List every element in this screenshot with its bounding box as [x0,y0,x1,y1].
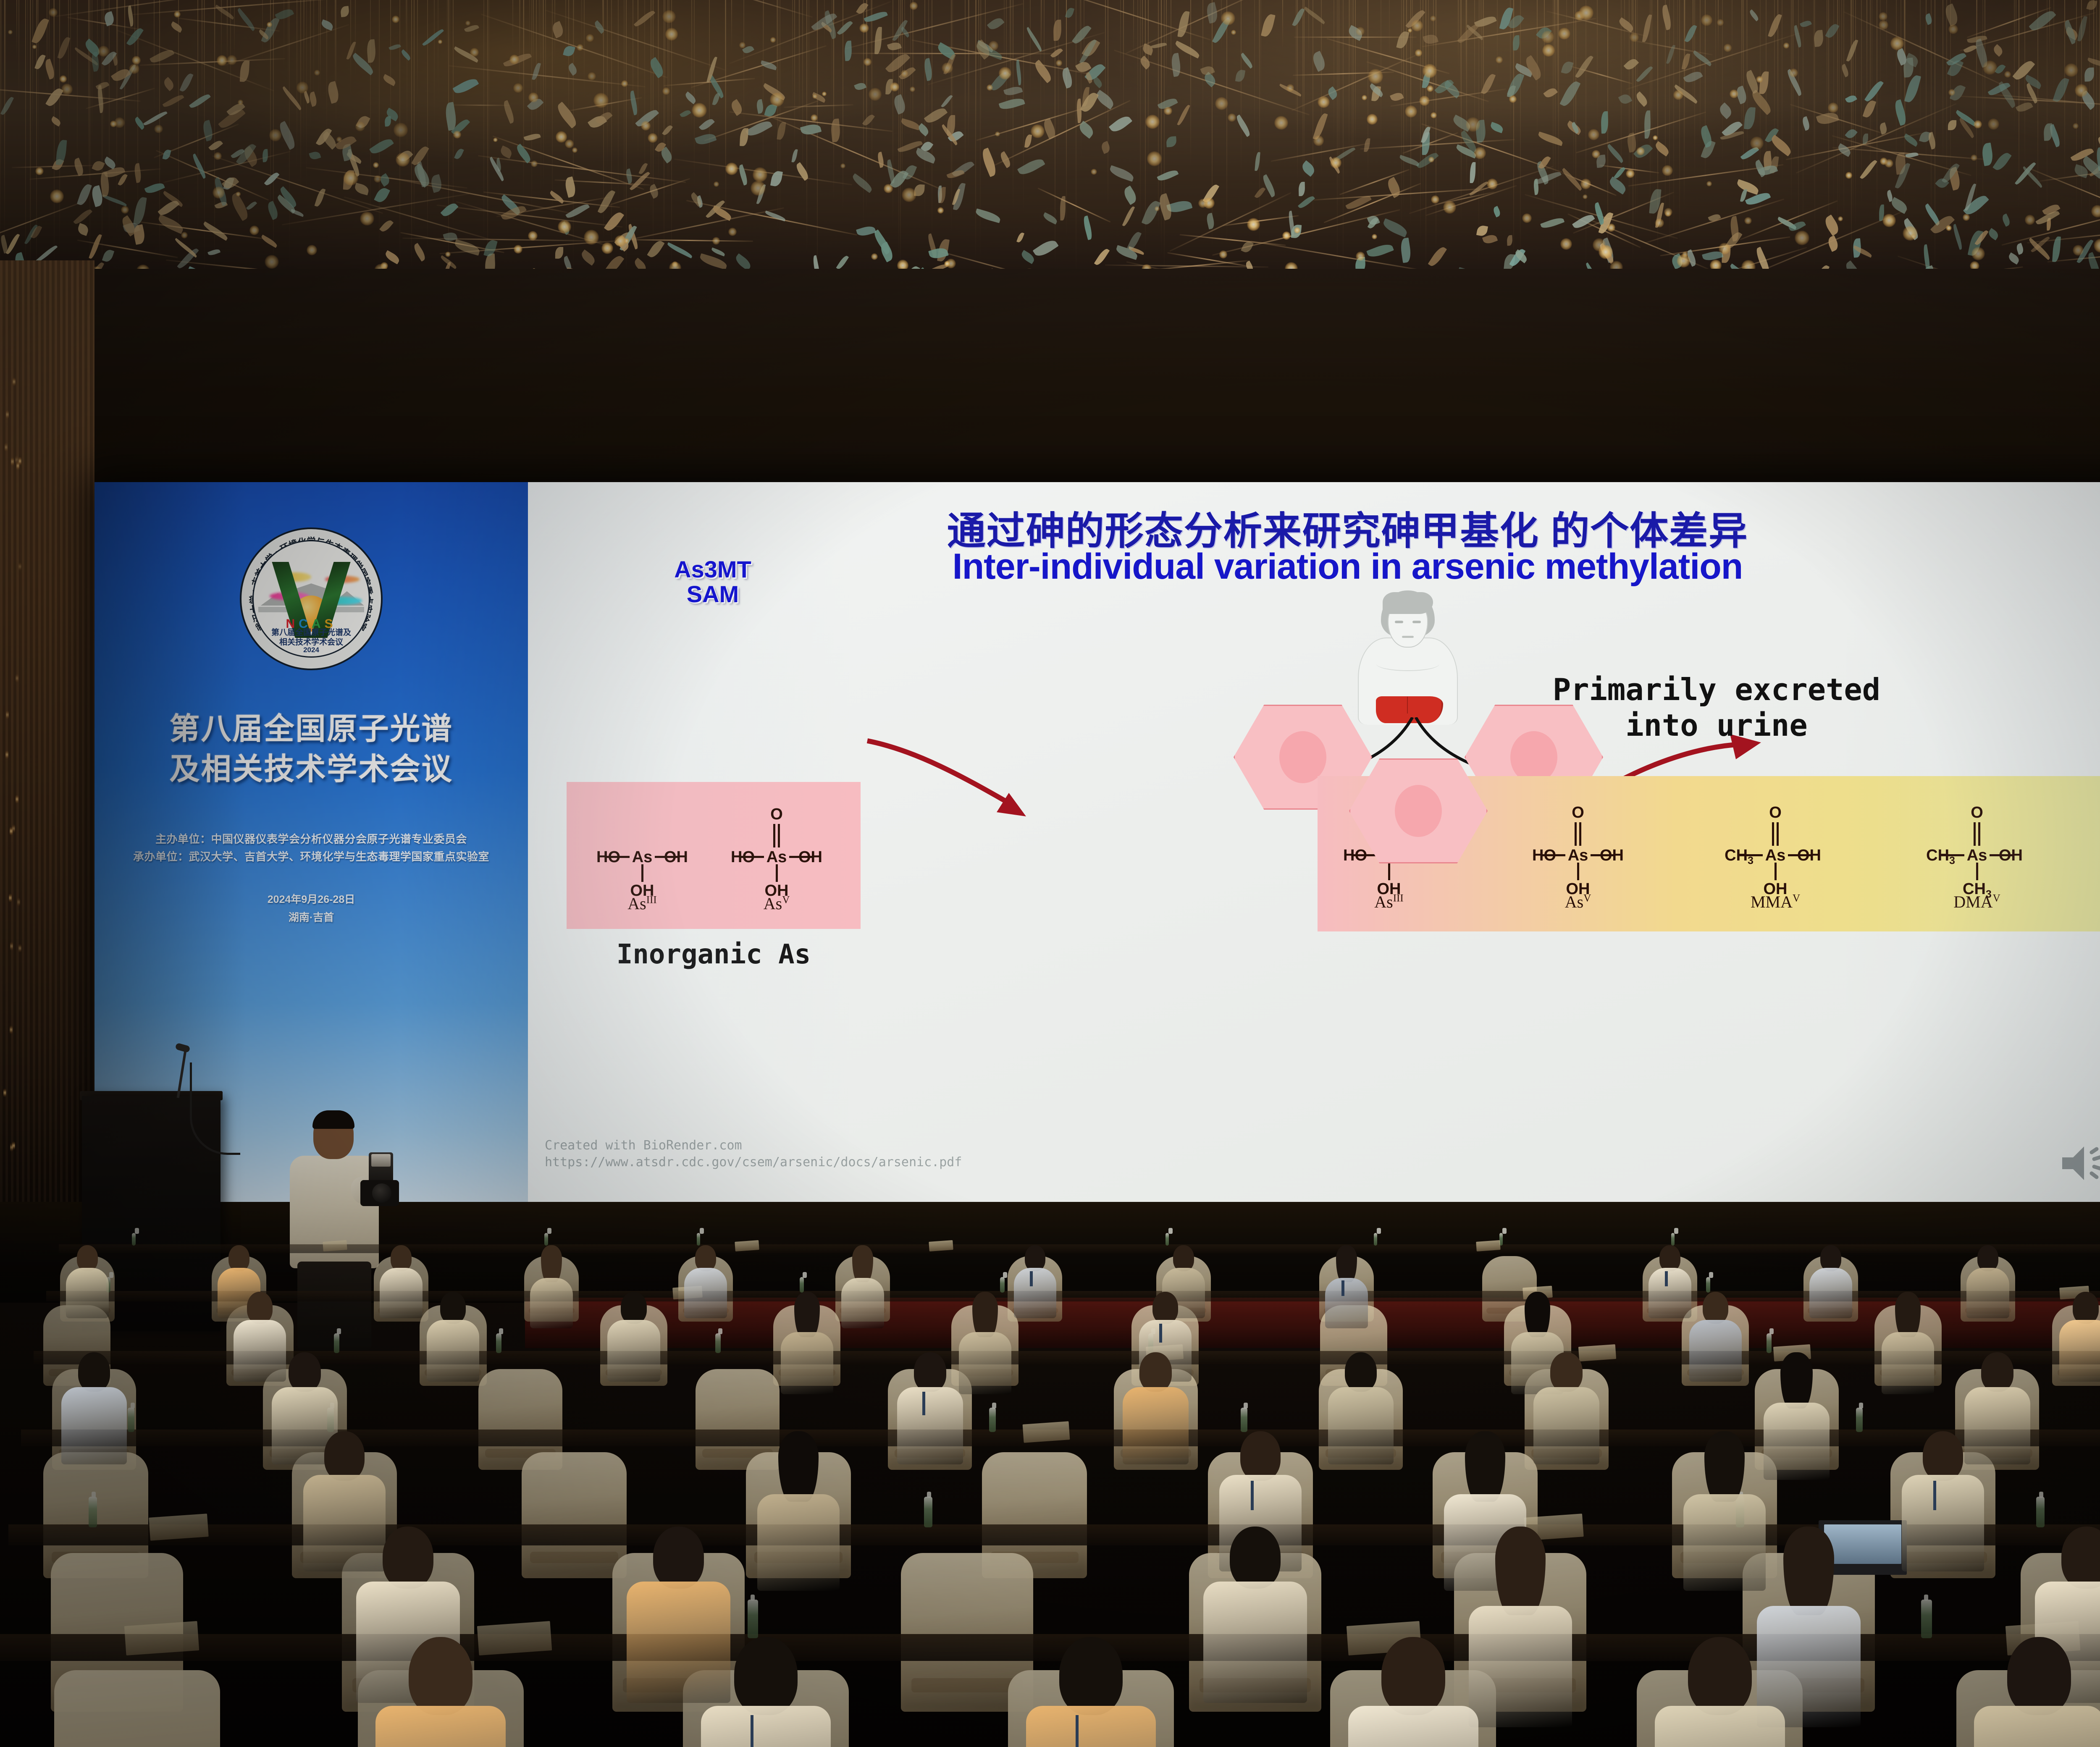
audience-member [773,1292,840,1397]
logo-year: 2024 [254,646,369,654]
enzyme-label: As3MT SAM [643,557,782,607]
audience-member [420,1292,487,1397]
audience-member [1330,1637,1496,1747]
excreted-urine-label: Primarily excreted into urine [1393,672,2040,743]
inorganic-as-caption: Inorganic As [567,939,861,970]
audience-member [746,1431,851,1595]
audience-member [52,1352,136,1483]
audience-member [1956,1637,2100,1747]
logo-inner-text: 第八届全国原子光谱及 相关技术学术会议 [254,628,369,647]
left-panel-date-location: 2024年9月26-28日 湖南·吉首 [268,891,355,926]
ceiling-installation [0,0,2100,294]
audience-member [2052,1292,2100,1397]
molecule-as5: O HO As OH OH AsV [714,803,840,908]
audience-member [1803,1245,1858,1330]
ceiling-glow [0,0,2100,294]
audience-member [1637,1637,1803,1747]
arrow-inorganic-to-cells [864,734,1045,831]
audience-member [1319,1245,1374,1330]
audience-member [678,1245,733,1330]
audience-member [1874,1292,1942,1397]
audience-member [1008,1637,1174,1747]
audience-member [888,1352,972,1483]
audience-member [1189,1527,1321,1733]
powerpoint-slide: 通过砷的形态分析来研究砷甲基化 的个体差异 Inter-individual v… [528,482,2100,1205]
audience-member [60,1245,115,1330]
audience-member [1682,1292,1749,1397]
audience-member [1114,1352,1198,1483]
audience-member [1890,1431,1995,1595]
left-panel-title: 第八届全国原子光谱 及相关技术学术会议 [169,709,453,790]
audience-chair [522,1452,627,1578]
audience-member [835,1245,890,1330]
audience-member [358,1637,524,1747]
conference-hall: 武汉大学·吉首大学·环境化学与生态毒理学国家重点实验室 [0,0,2100,1747]
audience-chair [54,1670,220,1747]
left-panel-organizers: 主办单位：中国仪器仪表学会分析仪器分会原子光谱专业委员会 承办单位：武汉大学、吉… [133,830,489,866]
molecule-urine-as5: O HO As OH OH AsV [1515,801,1641,906]
molecule-mma: O CH3 As OH OH MMAV [1712,801,1838,906]
molecule-dma: O CH3 As OH CH3 DMAV [1914,801,2040,906]
audience-seating-area [0,1239,2100,1747]
led-presentation-screen: 武汉大学·吉首大学·环境化学与生态毒理学国家重点实验室 [94,482,2100,1205]
audience-member [524,1245,579,1330]
wood-wall-panel-left [0,260,94,1235]
slide-credits: Created with BioRender.com https://www.a… [545,1137,962,1171]
audience-member [600,1292,667,1397]
audience-member [1319,1352,1403,1483]
inorganic-arsenic-box: HO As OH OH AsIII O HO As OH OH AsV I [567,782,861,929]
ncas-conference-logo: 武汉大学·吉首大学·环境化学与生态毒理学国家重点实验室 [240,527,383,670]
audience-member [683,1637,849,1747]
audience-member [1961,1245,2015,1330]
speaker-icon[interactable] [2058,1143,2100,1183]
molecule-as3: HO As OH OH AsIII [579,803,705,908]
